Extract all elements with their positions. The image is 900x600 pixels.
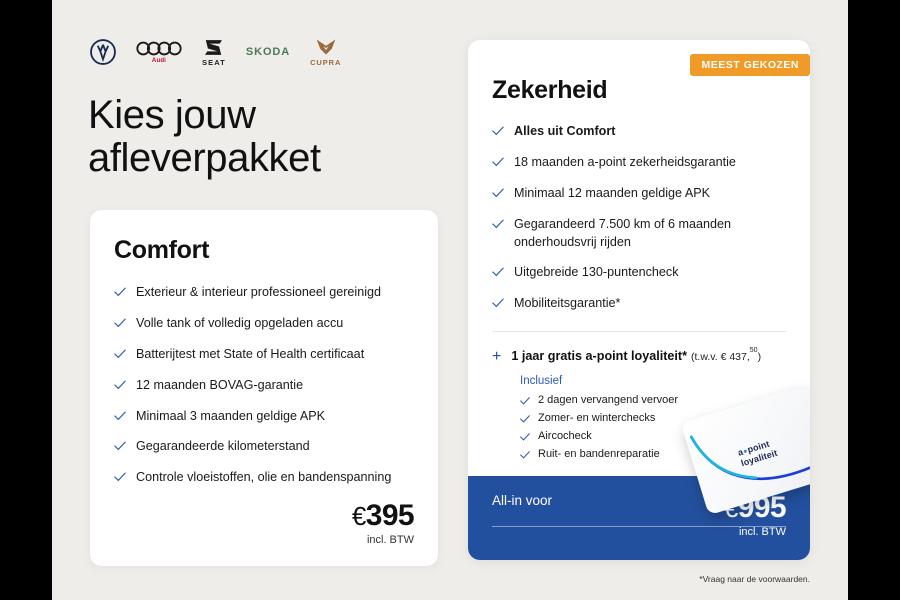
- price-amount: 395: [366, 499, 414, 532]
- promo-banner: Audi SEAT SKODA CUPRA Kies jouw afleverp…: [0, 0, 900, 600]
- allin-label: All-in voor: [492, 493, 552, 508]
- feature-text: Volle tank of volledig opgeladen accu: [136, 315, 343, 333]
- audi-rings-icon: [136, 40, 182, 57]
- feature-text: Batterijtest met State of Health certifi…: [136, 346, 364, 364]
- loyalty-worth: (t.w.v. € 437,50): [691, 351, 761, 363]
- zekerheid-feature-list: Alles uit Comfort 18 maanden a-point zek…: [492, 123, 786, 313]
- cupra-wordmark: CUPRA: [310, 58, 341, 67]
- volkswagen-logo: [90, 39, 116, 65]
- cupra-tribal-icon: [315, 38, 337, 56]
- footnote: *Vraag naar de voorwaarden.: [699, 574, 810, 584]
- inclusief-item-text: Aircocheck: [538, 430, 592, 442]
- feature-text: Alles uit Comfort: [514, 123, 615, 141]
- check-icon: [520, 433, 530, 441]
- feature-text: Controle vloeistoffen, olie en bandenspa…: [136, 469, 391, 487]
- package-card-zekerheid[interactable]: MEEST GEKOZEN Zekerheid Alles uit Comfor…: [468, 40, 810, 560]
- check-icon: [114, 441, 126, 451]
- check-icon: [114, 380, 126, 390]
- seat-s-icon: [203, 38, 224, 57]
- comfort-price-block: €395 incl. BTW: [352, 501, 414, 546]
- list-item: Gegarandeerd 7.500 km of 6 maanden onder…: [492, 216, 786, 252]
- divider: [492, 331, 786, 332]
- feature-text: Uitgebreide 130-puntencheck: [514, 264, 679, 282]
- feature-text: Mobiliteitsgarantie*: [514, 295, 620, 313]
- list-item: Exterieur & interieur professioneel gere…: [114, 284, 414, 302]
- page-title: Kies jouw afleverpakket: [88, 94, 321, 180]
- inclusief-item-text: Ruit- en bandenreparatie: [538, 448, 660, 460]
- list-item: Volle tank of volledig opgeladen accu: [114, 315, 414, 333]
- loyalty-worth-suffix: ): [758, 351, 762, 363]
- list-item: Controle vloeistoffen, olie en bandenspa…: [114, 469, 414, 487]
- seat-wordmark: SEAT: [202, 58, 226, 67]
- status-badge: MEEST GEKOZEN: [690, 54, 810, 76]
- zekerheid-body: MEEST GEKOZEN Zekerheid Alles uit Comfor…: [468, 40, 810, 460]
- list-item: Batterijtest met State of Health certifi…: [114, 346, 414, 364]
- feature-text: 12 maanden BOVAG-garantie: [136, 377, 303, 395]
- feature-text: Gegarandeerd 7.500 km of 6 maanden onder…: [514, 216, 786, 252]
- volkswagen-icon: [90, 39, 116, 65]
- check-icon: [114, 287, 126, 297]
- check-icon: [520, 397, 530, 405]
- zekerheid-price-note: incl. BTW: [724, 526, 786, 538]
- check-icon: [492, 157, 504, 167]
- list-item: Alles uit Comfort: [492, 123, 786, 141]
- check-icon: [114, 349, 126, 359]
- check-icon: [114, 318, 126, 328]
- loyalty-offer-row: + 1 jaar gratis a-point loyaliteit*(t.w.…: [492, 348, 786, 364]
- list-item: Minimaal 3 maanden geldige APK: [114, 408, 414, 426]
- list-item: Minimaal 12 maanden geldige APK: [492, 185, 786, 203]
- seat-logo: SEAT: [202, 38, 226, 67]
- comfort-title: Comfort: [114, 236, 414, 265]
- comfort-feature-list: Exterieur & interieur professioneel gere…: [114, 284, 414, 487]
- content-canvas: Audi SEAT SKODA CUPRA Kies jouw afleverp…: [52, 0, 848, 600]
- comfort-price-note: incl. BTW: [352, 534, 414, 546]
- brand-logo-row: Audi SEAT SKODA CUPRA: [90, 36, 341, 68]
- feature-text: Minimaal 3 maanden geldige APK: [136, 408, 325, 426]
- check-icon: [114, 411, 126, 421]
- list-item: Gegarandeerde kilometerstand: [114, 438, 414, 456]
- feature-text: Gegarandeerde kilometerstand: [136, 438, 310, 456]
- feature-text: Exterieur & interieur professioneel gere…: [136, 284, 381, 302]
- check-icon: [492, 188, 504, 198]
- cupra-logo: CUPRA: [310, 38, 341, 67]
- inclusief-item-text: 2 dagen vervangend vervoer: [538, 394, 678, 406]
- list-item: 18 maanden a-point zekerheidsgarantie: [492, 154, 786, 172]
- list-item: 12 maanden BOVAG-garantie: [114, 377, 414, 395]
- feature-text: 18 maanden a-point zekerheidsgarantie: [514, 154, 736, 172]
- zekerheid-title: Zekerheid: [492, 76, 786, 105]
- plus-icon: +: [492, 349, 501, 365]
- loyalty-worth-prefix: (t.w.v. € 437,: [691, 351, 750, 363]
- audi-wordmark: Audi: [152, 58, 166, 64]
- check-icon: [520, 415, 530, 423]
- loyalty-label: 1 jaar gratis a-point loyaliteit*: [511, 349, 687, 363]
- loyalty-worth-cents: 50: [750, 347, 758, 354]
- feature-text: Minimaal 12 maanden geldige APK: [514, 185, 710, 203]
- package-card-comfort[interactable]: Comfort Exterieur & interieur profession…: [90, 210, 438, 566]
- inclusief-item-text: Zomer- en winterchecks: [538, 412, 655, 424]
- check-icon: [492, 219, 504, 229]
- currency-symbol: €: [352, 501, 366, 531]
- check-icon: [492, 298, 504, 308]
- audi-logo: Audi: [136, 40, 182, 64]
- list-item: Uitgebreide 130-puntencheck: [492, 264, 786, 282]
- skoda-logo: SKODA: [246, 46, 290, 58]
- check-icon: [520, 451, 530, 459]
- check-icon: [114, 472, 126, 482]
- list-item: Mobiliteitsgarantie*: [492, 295, 786, 313]
- check-icon: [492, 267, 504, 277]
- check-icon: [492, 126, 504, 136]
- inclusief-title: Inclusief: [520, 375, 786, 387]
- skoda-wordmark: SKODA: [246, 46, 290, 58]
- footer-divider: [492, 526, 786, 527]
- comfort-price: €395: [352, 501, 414, 531]
